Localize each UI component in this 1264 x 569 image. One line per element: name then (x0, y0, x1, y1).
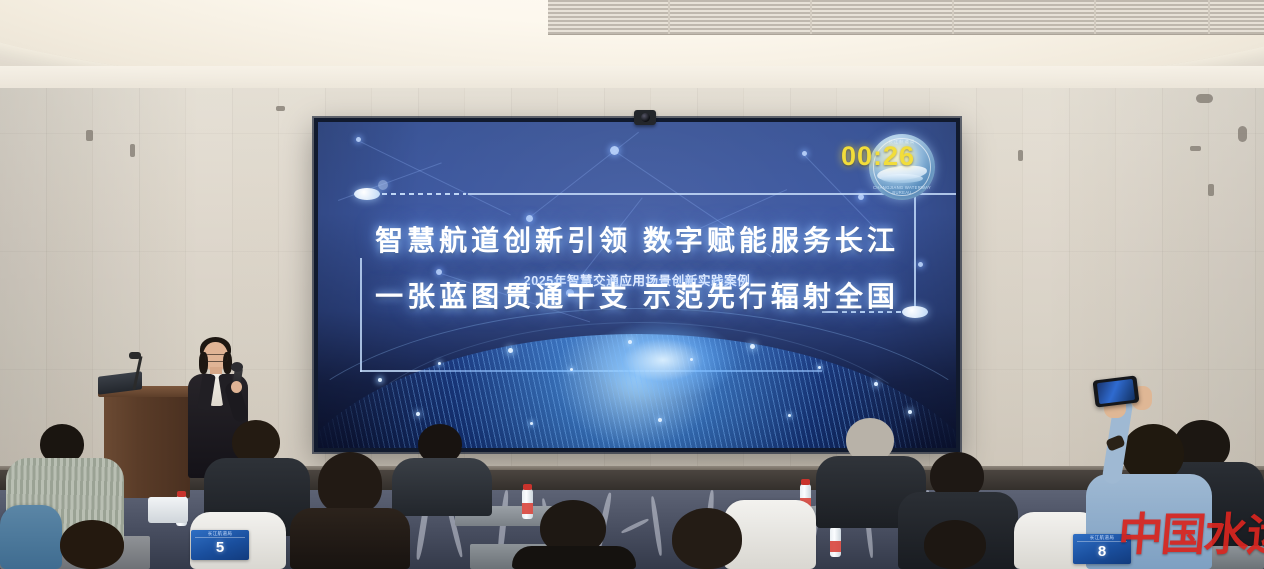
ceiling-fixture (1208, 184, 1214, 196)
network-node (802, 151, 807, 156)
smartphone[interactable] (1093, 375, 1140, 407)
bottle-label (830, 541, 841, 552)
globe-node (438, 362, 441, 365)
bottle-cap (523, 484, 532, 490)
bottle-cap (801, 479, 810, 485)
emblem-bottom-text: CHANGJIANG WATERWAY BUREAU (869, 185, 935, 195)
ceiling-speaker (1238, 126, 1247, 142)
ceiling-speaker (1196, 94, 1213, 103)
camera-icon (634, 110, 656, 125)
globe-node (378, 378, 382, 382)
presenter-glasses-icon (205, 354, 228, 362)
globe-node (628, 340, 632, 344)
decor-dashed-line-top (382, 193, 466, 195)
news-outlet-watermark: 中国水运报 (1115, 503, 1264, 569)
network-node (918, 262, 923, 267)
globe-node (508, 348, 513, 353)
globe-node (750, 344, 755, 349)
globe-node (818, 366, 821, 369)
bottle-label (522, 503, 533, 514)
smartphone-screen (1097, 379, 1135, 404)
ceiling-fixture (86, 130, 93, 141)
placard-divider (195, 537, 245, 538)
countdown-timer: 00:26 (841, 141, 915, 172)
globe-node (690, 358, 693, 361)
globe-node (658, 418, 662, 422)
network-node (356, 137, 361, 142)
seat-placard: 长江航道局 5 (191, 530, 249, 560)
gooseneck-microphone-head (129, 352, 141, 359)
emblem-wave-shape-2 (881, 174, 923, 183)
globe-node (788, 414, 791, 417)
presenter-hand (231, 381, 242, 393)
network-node (610, 146, 619, 155)
tissue-box (148, 497, 188, 523)
globe-node (570, 368, 573, 371)
globe-node (908, 410, 912, 414)
screenshot-root: 2025年智慧交通应用场景创新实践案例 (0, 0, 1264, 569)
slide-headline-line1: 智慧航道创新引领 数字赋能服务长江 (318, 219, 956, 259)
decor-pill-top-left (354, 188, 380, 200)
globe-node (874, 382, 878, 386)
headline-bracket-top (468, 194, 916, 196)
handheld-microphone-head (231, 362, 243, 372)
ceiling-air-vent (548, 0, 1264, 35)
ceiling-fixture (130, 144, 135, 157)
ceiling-fixture (1190, 146, 1201, 151)
ceiling-fixture (276, 106, 285, 111)
globe-node (530, 422, 533, 425)
network-node (378, 180, 388, 190)
conference-chair (0, 505, 62, 569)
globe-node (416, 412, 420, 416)
ceiling-fixture (1018, 150, 1023, 161)
placard-number: 5 (191, 539, 249, 556)
slide-headline-line2: 一张蓝图贯通干支 示范先行辐射全国 (318, 275, 956, 315)
